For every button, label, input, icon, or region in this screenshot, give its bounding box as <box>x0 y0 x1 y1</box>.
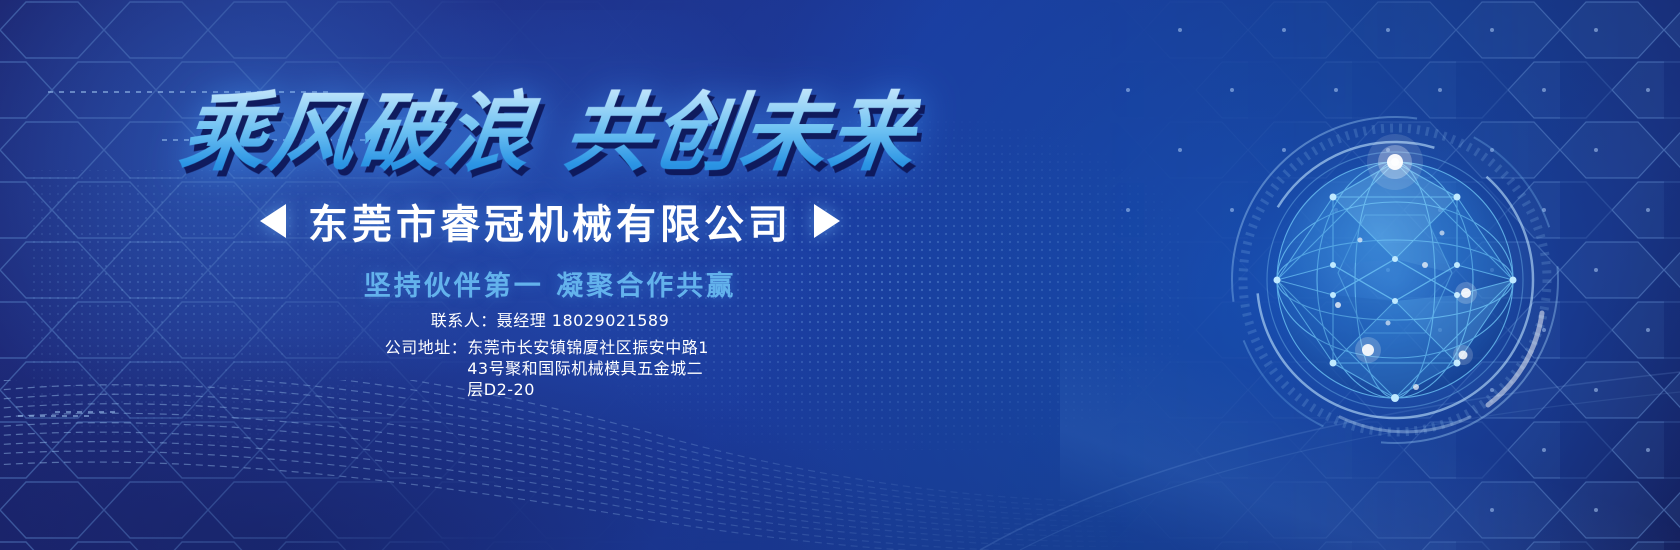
banner-headline: 乘风破浪 共创未来 <box>0 62 1100 187</box>
wireframe-globe-graphic <box>1220 105 1570 455</box>
contact-person-row: 联系人： 聂经理 18029021589 <box>0 310 1100 331</box>
company-name: 东莞市睿冠机械有限公司 <box>308 192 792 250</box>
banner-content: 乘风破浪 共创未来 东莞市睿冠机械有限公司 坚持伙伴第一 凝聚合作共赢 联系人：… <box>0 0 1100 550</box>
contact-person-value: 聂经理 18029021589 <box>497 310 670 331</box>
slogan-text: 坚持伙伴第一 凝聚合作共赢 <box>0 264 1100 303</box>
company-address-row: 公司地址： 东莞市长安镇锦厦社区振安中路143号聚和国际机械模具五金城二层D2-… <box>0 337 1100 400</box>
left-triangle-icon <box>260 204 286 238</box>
company-address-label: 公司地址： <box>385 337 468 358</box>
contact-block: 联系人： 聂经理 18029021589 公司地址： 东莞市长安镇锦厦社区振安中… <box>0 310 1100 400</box>
right-triangle-icon <box>814 204 840 238</box>
headline-text: 乘风破浪 共创未来 <box>174 62 925 187</box>
promotional-banner: 乘风破浪 共创未来 东莞市睿冠机械有限公司 坚持伙伴第一 凝聚合作共赢 联系人：… <box>0 0 1680 550</box>
company-address-value: 东莞市长安镇锦厦社区振安中路143号聚和国际机械模具五金城二层D2-20 <box>467 337 715 400</box>
company-name-row: 东莞市睿冠机械有限公司 <box>0 192 1100 250</box>
contact-person-label: 联系人： <box>431 310 497 331</box>
